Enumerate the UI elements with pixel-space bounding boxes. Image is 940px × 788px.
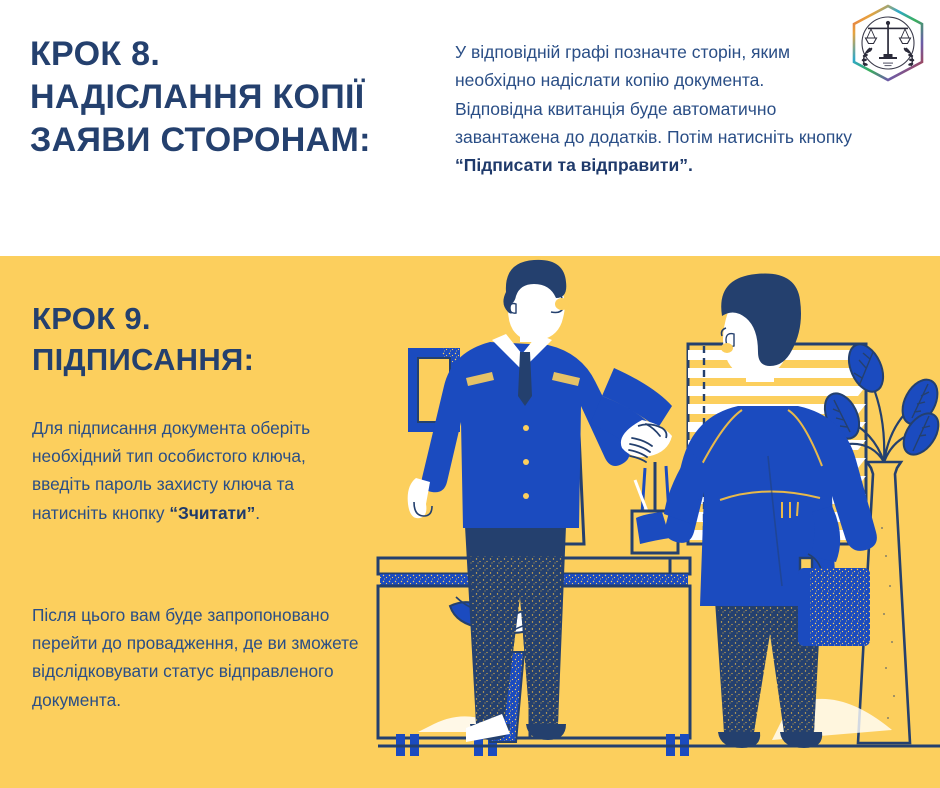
step9-paragraph-1: Для підписання документа оберіть необхід…	[32, 414, 362, 527]
step8-heading: КРОК 8. НАДІСЛАННЯ КОПІЇ ЗАЯВИ СТОРОНАМ:	[30, 33, 440, 163]
step8-heading-line-3: ЗАЯВИ СТОРОНАМ:	[30, 119, 440, 162]
step9-heading-line-1: КРОК 9.	[32, 298, 392, 339]
step9-heading-line-2: ПІДПИСАННЯ:	[32, 339, 392, 380]
infographic-page: КРОК 8. НАДІСЛАННЯ КОПІЇ ЗАЯВИ СТОРОНАМ:…	[0, 0, 940, 788]
briefcase	[798, 558, 870, 646]
step9-paragraph-1-period: .	[255, 503, 260, 523]
step9-section: КРОК 9. ПІДПИСАННЯ: Для підписання докум…	[0, 256, 940, 788]
step9-paragraph-1-button-name: “Зчитати”	[169, 503, 255, 523]
step8-heading-line-1: КРОК 8.	[30, 33, 440, 76]
step8-paragraph: У відповідній графі позначте сторін, яки…	[455, 38, 855, 180]
step9-heading: КРОК 9. ПІДПИСАННЯ:	[32, 298, 392, 380]
step8-paragraph-button-name: “Підписати та відправити”.	[455, 155, 693, 175]
step8-heading-line-2: НАДІСЛАННЯ КОПІЇ	[30, 76, 440, 119]
step8-section: КРОК 8. НАДІСЛАННЯ КОПІЇ ЗАЯВИ СТОРОНАМ:…	[0, 0, 940, 256]
step8-paragraph-text: У відповідній графі позначте сторін, яки…	[455, 42, 852, 147]
office-handshake-illustration	[370, 256, 940, 788]
justice-scales-emblem-icon	[844, 2, 932, 86]
step9-paragraph-2: Після цього вам буде запропоновано перей…	[32, 601, 362, 714]
